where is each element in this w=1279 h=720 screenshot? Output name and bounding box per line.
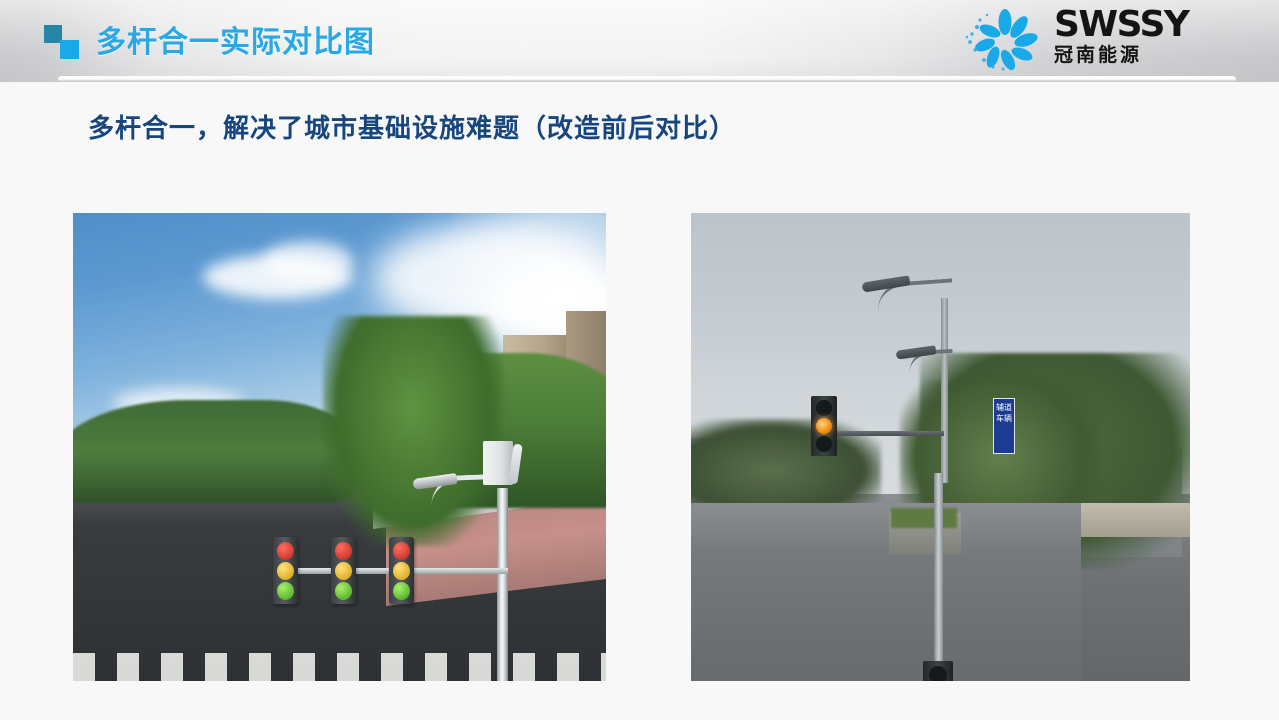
cloud-icon — [263, 241, 353, 281]
auxiliary-road-sign: 辅道车辆 — [993, 398, 1015, 454]
signal-green-icon — [335, 582, 352, 600]
signal-amber-icon — [277, 562, 294, 580]
traffic-signal-head — [389, 537, 414, 604]
signal-pole — [934, 473, 943, 681]
signal-lamp-off-icon — [929, 666, 947, 681]
main-traffic-signal — [923, 661, 953, 681]
slide-subtitle: 多杆合一，解决了城市基础设施难题（改造前后对比） — [88, 108, 736, 145]
signal-arrow-amber-icon — [816, 418, 832, 434]
page-title: 多杆合一实际对比图 — [96, 17, 375, 61]
water-droplet-flower-icon — [962, 7, 1048, 71]
render-scene — [73, 213, 606, 681]
header-square-light-icon — [60, 40, 79, 59]
traffic-signal-head — [273, 537, 298, 604]
signal-lamp-off-icon — [816, 436, 832, 452]
signal-green-icon — [277, 582, 294, 600]
tree-center — [323, 316, 503, 546]
photo-scene: 辅道车辆 — [691, 213, 1190, 681]
median-planting — [891, 508, 957, 528]
brand-logo-text: SWSSY 冠南能源 — [1054, 7, 1188, 68]
comparison-image-right: 辅道车辆 — [691, 213, 1190, 681]
signal-red-icon — [277, 542, 294, 560]
header-divider — [58, 76, 1236, 82]
slide-root: 多杆合一实际对比图 — [0, 0, 1279, 720]
signal-green-icon — [393, 582, 410, 600]
signal-red-icon — [335, 542, 352, 560]
brand-name-cn: 冠南能源 — [1054, 44, 1188, 68]
street-light-pole — [941, 298, 948, 483]
traffic-signal-head — [331, 537, 356, 604]
signal-crossarm — [836, 431, 944, 436]
smart-pole — [497, 488, 508, 681]
signal-red-icon — [393, 542, 410, 560]
signal-lamp-off-icon — [816, 400, 832, 416]
signal-amber-icon — [335, 562, 352, 580]
slide-header: 多杆合一实际对比图 — [0, 0, 1279, 82]
brand-logo: SWSSY 冠南能源 — [962, 5, 1224, 73]
arrow-traffic-signal — [811, 396, 837, 456]
comparison-image-left — [73, 213, 606, 681]
treeline-left — [73, 400, 353, 503]
roadway — [691, 503, 1081, 681]
crosswalk — [73, 653, 606, 681]
signal-amber-icon — [393, 562, 410, 580]
brand-name-en: SWSSY — [1054, 7, 1188, 43]
